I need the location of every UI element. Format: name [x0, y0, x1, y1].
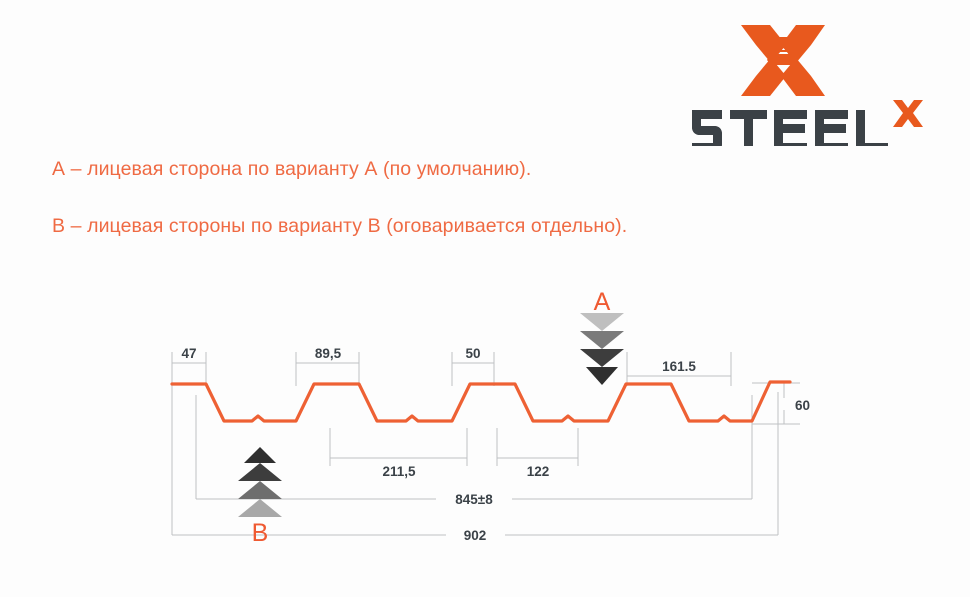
profile-technical-drawing: 47 89,5 50 161.5 211,5 122 845±8 902 60 … [0, 0, 970, 597]
dimension-label-47: 47 [181, 346, 196, 361]
dimension-label-50: 50 [465, 346, 480, 361]
trapezoidal-profile-outline [172, 382, 790, 421]
marker-label-b: В [252, 519, 269, 547]
dimension-label-60: 60 [795, 398, 810, 413]
dimension-label-845: 845±8 [455, 492, 493, 507]
dimension-label-902: 902 [464, 528, 487, 543]
dimension-label-211-5: 211,5 [382, 464, 416, 479]
dimension-label-89-5: 89,5 [315, 346, 342, 361]
dimension-label-161-5: 161.5 [662, 359, 696, 374]
profile-drawing-svg: 47 89,5 50 161.5 211,5 122 845±8 902 60 … [0, 0, 970, 597]
drawing-page: А – лицевая сторона по варианту А (по ум… [0, 0, 970, 597]
marker-label-a: А [594, 288, 611, 316]
dimension-label-122: 122 [527, 464, 550, 479]
chevron-up-stack-icon [238, 447, 282, 517]
chevron-down-stack-icon [580, 313, 624, 385]
